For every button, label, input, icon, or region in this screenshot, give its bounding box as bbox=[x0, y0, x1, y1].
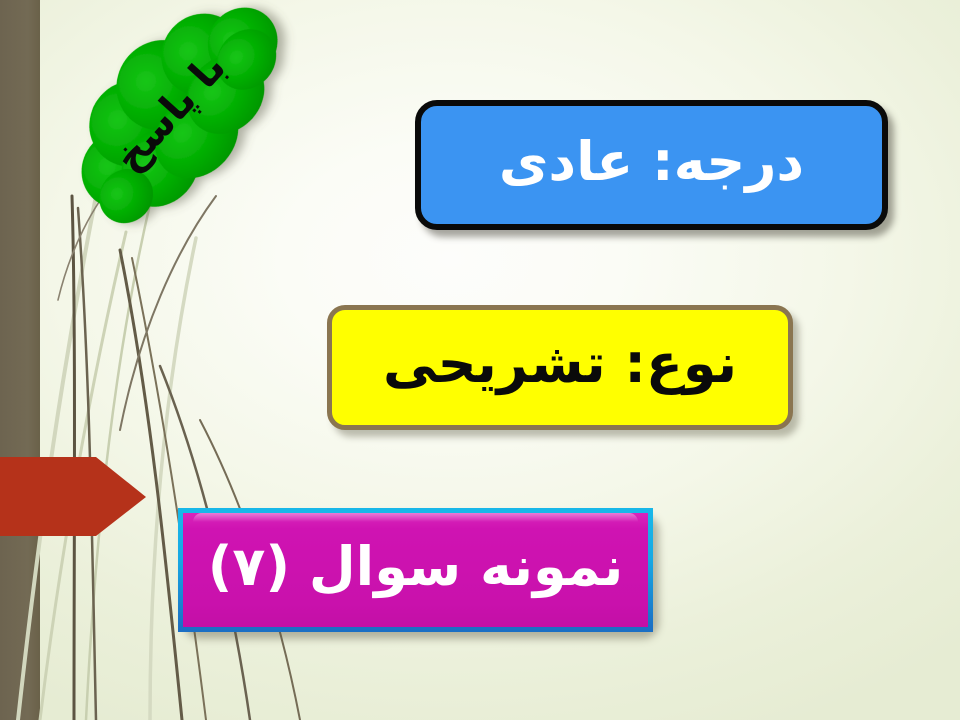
degree-label-text: درجه: عادی bbox=[499, 134, 804, 191]
degree-label-box[interactable]: درجه: عادی bbox=[415, 100, 888, 230]
sample-question-box[interactable]: نمونه سوال (۷) bbox=[178, 508, 653, 632]
slide-canvas: با پاسخ درجه: عادی نوع: تشریحی نمونه سوا… bbox=[0, 0, 960, 720]
answer-cloud-callout[interactable]: با پاسخ bbox=[38, 0, 310, 240]
sample-question-text: نمونه سوال (۷) bbox=[208, 539, 624, 596]
type-label-text: نوع: تشریحی bbox=[383, 336, 737, 393]
right-pointing-arrow bbox=[0, 455, 146, 538]
type-label-box[interactable]: نوع: تشریحی bbox=[327, 305, 793, 430]
